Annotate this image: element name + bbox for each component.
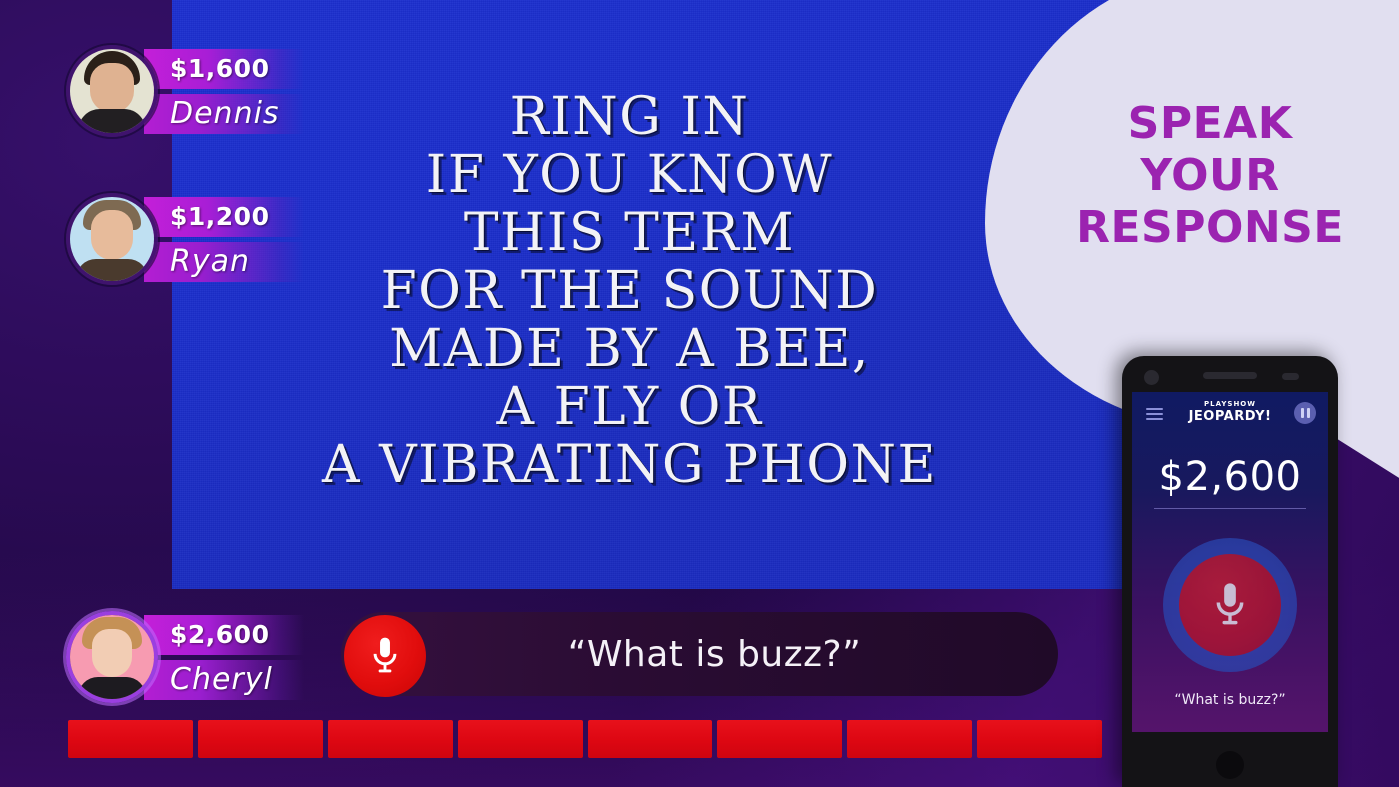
player-plates: $1,600 Dennis bbox=[144, 49, 304, 134]
divider bbox=[1154, 508, 1306, 509]
response-text: “What is buzz?” bbox=[341, 634, 1058, 675]
avatar bbox=[66, 45, 158, 137]
logo-jeopardy: JEOPARDY! bbox=[1132, 409, 1328, 424]
player-card-1[interactable]: $1,600 Dennis bbox=[66, 38, 304, 144]
score-plate: $1,600 bbox=[144, 49, 304, 89]
score-plate: $1,200 bbox=[144, 197, 304, 237]
timer-segment bbox=[588, 720, 713, 758]
clue-panel: RING IN IF YOU KNOW THIS TERM FOR THE SO… bbox=[172, 0, 1127, 589]
timer-segment bbox=[977, 720, 1102, 758]
name-plate: Ryan bbox=[144, 242, 304, 282]
player-name: Cheryl bbox=[170, 662, 273, 697]
phone-mic-button[interactable] bbox=[1163, 538, 1297, 672]
avatar bbox=[66, 193, 158, 285]
player-photo-cheryl bbox=[70, 615, 154, 699]
phone-home-button[interactable] bbox=[1216, 751, 1244, 779]
player-score: $2,600 bbox=[170, 620, 269, 649]
player-photo-ryan bbox=[70, 197, 154, 281]
player-score: $1,600 bbox=[170, 54, 269, 83]
speak-your-response-label: SPEAK YOUR RESPONSE bbox=[1040, 98, 1380, 254]
timer-segment bbox=[717, 720, 842, 758]
timer-bar bbox=[68, 720, 1102, 758]
timer-segment bbox=[458, 720, 583, 758]
phone-camera-icon bbox=[1144, 370, 1159, 385]
player-name: Dennis bbox=[170, 96, 280, 131]
response-bar: “What is buzz?” bbox=[341, 612, 1058, 696]
name-plate: Dennis bbox=[144, 94, 304, 134]
player-score: $1,200 bbox=[170, 202, 269, 231]
player-plates: $1,200 Ryan bbox=[144, 197, 304, 282]
name-plate: Cheryl bbox=[144, 660, 304, 700]
timer-segment bbox=[328, 720, 453, 758]
phone-response-text: “What is buzz?” bbox=[1132, 692, 1328, 708]
microphone-icon[interactable] bbox=[344, 615, 426, 697]
phone-sensor bbox=[1282, 373, 1299, 380]
clue-text: RING IN IF YOU KNOW THIS TERM FOR THE SO… bbox=[172, 88, 1127, 494]
player-photo-dennis bbox=[70, 49, 154, 133]
player-phone: PLAYSHOW JEOPARDY! $2,600 “What is buzz?… bbox=[1122, 356, 1338, 787]
phone-speaker-grille bbox=[1203, 372, 1257, 379]
player-card-2[interactable]: $1,200 Ryan bbox=[66, 186, 304, 292]
player-card-3[interactable]: $2,600 Cheryl bbox=[66, 604, 304, 710]
logo-playshow: PLAYSHOW bbox=[1132, 400, 1328, 408]
phone-screen: PLAYSHOW JEOPARDY! $2,600 “What is buzz?… bbox=[1132, 392, 1328, 732]
avatar bbox=[66, 611, 158, 703]
player-plates: $2,600 Cheryl bbox=[144, 615, 304, 700]
app-logo: PLAYSHOW JEOPARDY! bbox=[1132, 400, 1328, 424]
timer-segment bbox=[847, 720, 972, 758]
score-plate: $2,600 bbox=[144, 615, 304, 655]
timer-segment bbox=[68, 720, 193, 758]
phone-score: $2,600 bbox=[1132, 454, 1328, 500]
game-screen: RING IN IF YOU KNOW THIS TERM FOR THE SO… bbox=[0, 0, 1399, 787]
player-name: Ryan bbox=[170, 244, 250, 279]
timer-segment bbox=[198, 720, 323, 758]
microphone-icon[interactable] bbox=[1179, 554, 1281, 656]
